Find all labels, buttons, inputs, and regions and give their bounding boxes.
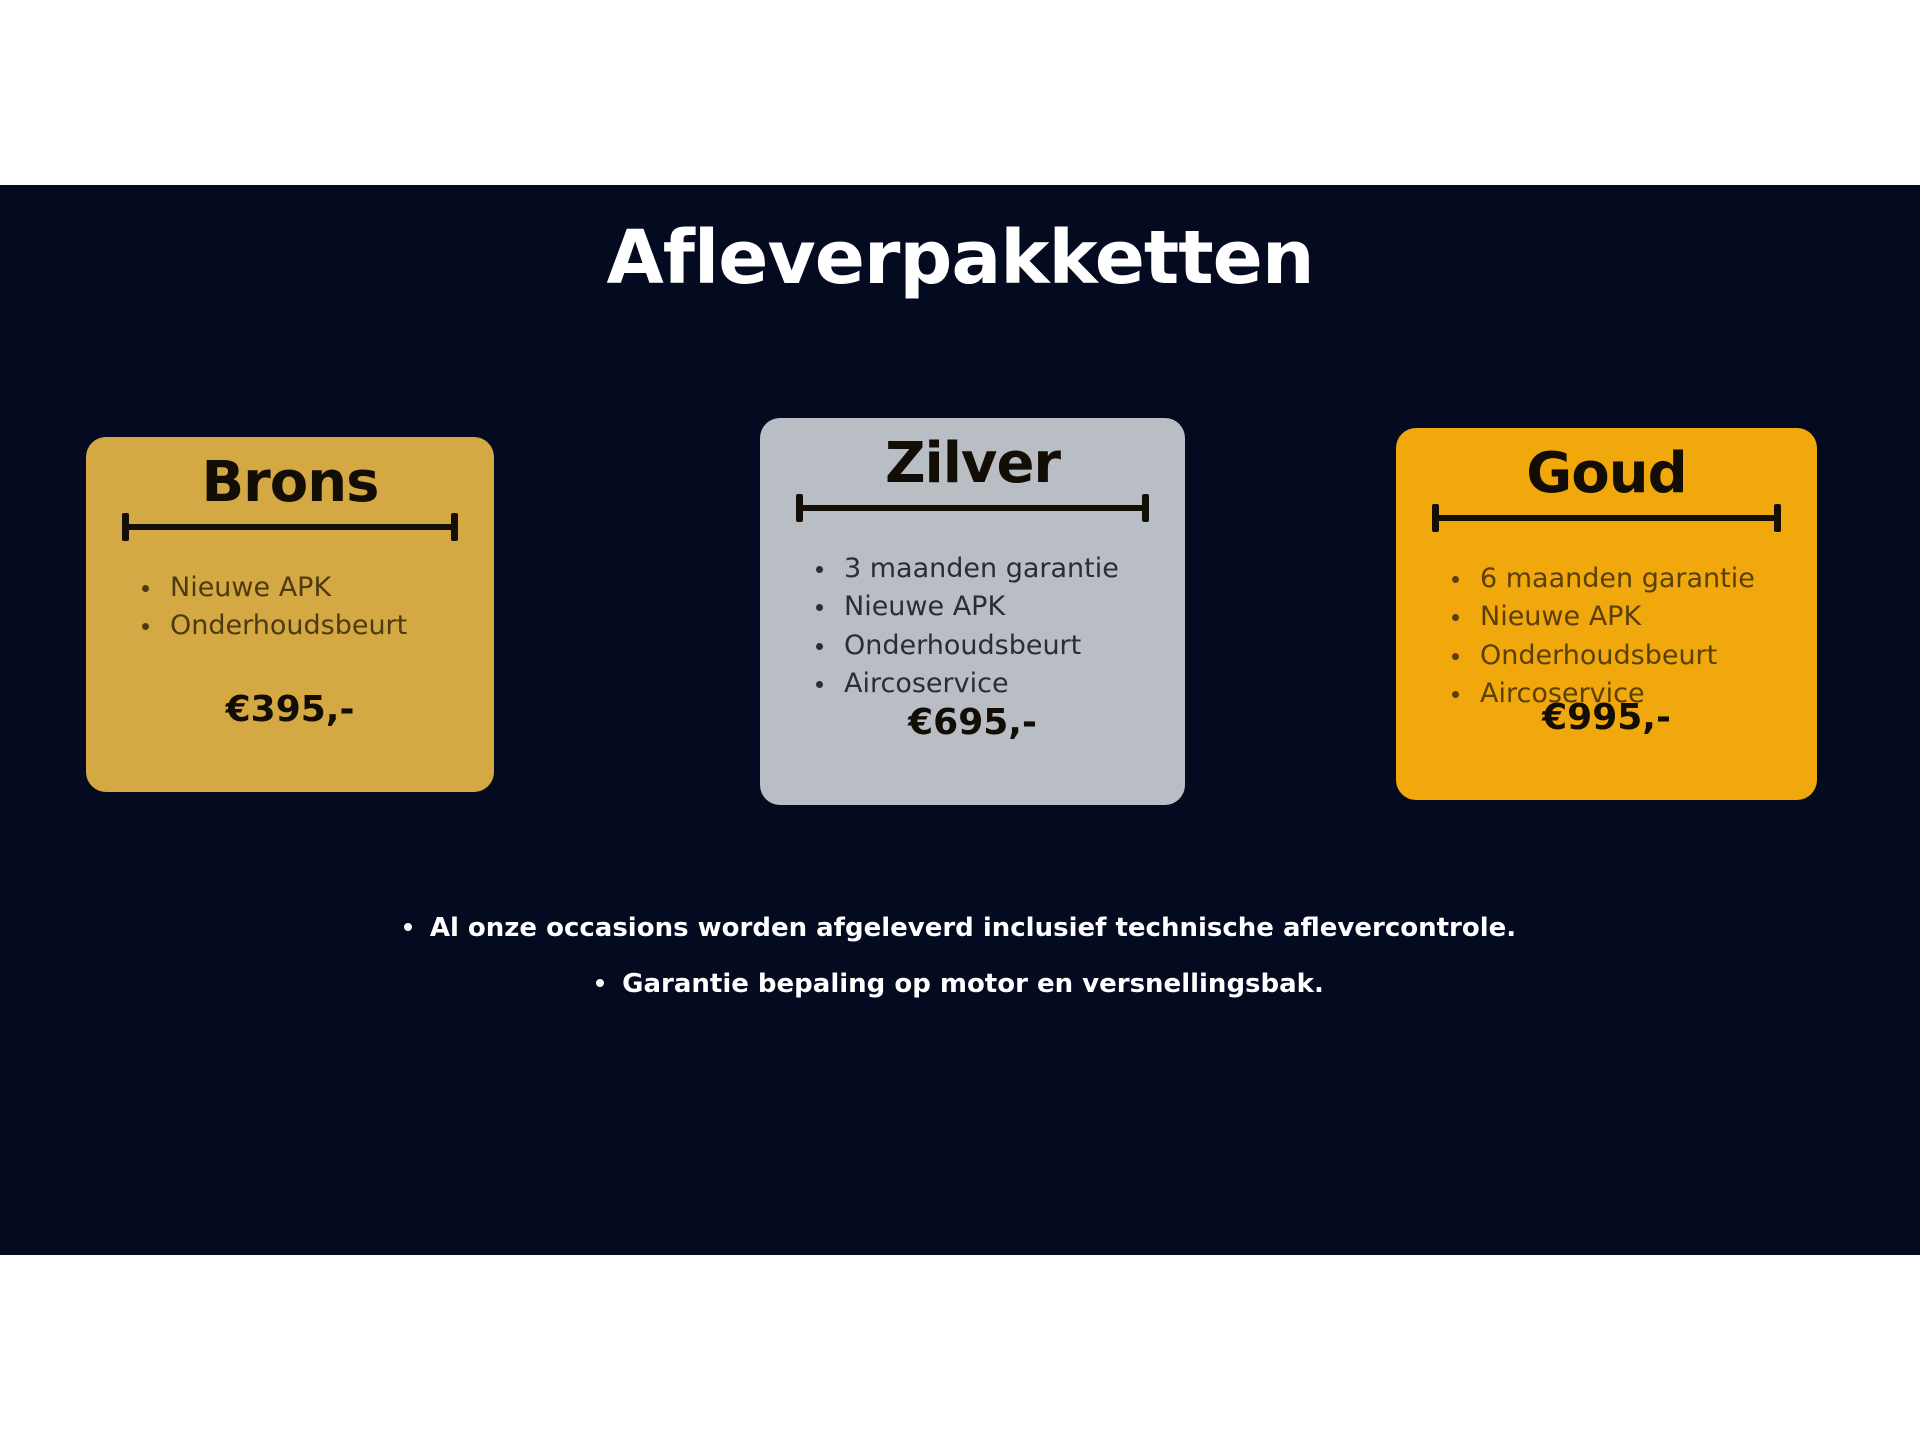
package-card-brons[interactable]: Brons Nieuwe APK Onderhoudsbeurt €395,- [86,437,494,792]
list-item: 3 maanden garantie [808,550,1185,588]
bullet-icon [596,979,604,987]
list-item: Nieuwe APK [134,569,494,607]
package-title-brons: Brons [86,437,494,511]
footnote-text: Al onze occasions worden afgeleverd incl… [430,913,1516,943]
divider-cap-right-icon [451,513,458,541]
list-item: Nieuwe APK [808,588,1185,626]
list-item: Nieuwe APK [1444,598,1817,636]
footnotes-section: Al onze occasions worden afgeleverd incl… [0,915,1920,1027]
bullet-icon [404,923,412,931]
list-item: 6 maanden garantie [1444,560,1817,598]
feature-list-goud: 6 maanden garantie Nieuwe APK Onderhouds… [1396,560,1817,713]
divider-line-icon [1438,515,1775,521]
list-item: Aircoservice [808,665,1185,703]
title-divider-bar-icon [796,494,1149,520]
list-item: Onderhoudsbeurt [808,627,1185,665]
title-divider-bar-icon [122,513,458,539]
page-title: Afleverpakketten [0,215,1920,301]
package-title-goud: Goud [1396,428,1817,502]
divider-line-icon [802,505,1143,511]
divider-line-icon [128,524,452,530]
package-title-zilver: Zilver [760,418,1185,492]
list-item: Onderhoudsbeurt [134,607,494,645]
package-price-zilver: €695,- [760,702,1185,743]
footnote-text: Garantie bepaling op motor en versnellin… [622,969,1324,999]
footnote-item: Garantie bepaling op motor en versnellin… [0,971,1920,997]
divider-cap-right-icon [1774,504,1781,532]
title-divider-bar-icon [1432,504,1781,530]
package-price-goud: €995,- [1396,697,1817,738]
package-card-zilver[interactable]: Zilver 3 maanden garantie Nieuwe APK Ond… [760,418,1185,805]
feature-list-zilver: 3 maanden garantie Nieuwe APK Onderhouds… [760,550,1185,703]
package-card-goud[interactable]: Goud 6 maanden garantie Nieuwe APK Onder… [1396,428,1817,800]
list-item: Onderhoudsbeurt [1444,637,1817,675]
footnote-item: Al onze occasions worden afgeleverd incl… [0,915,1920,941]
feature-list-brons: Nieuwe APK Onderhoudsbeurt [86,569,494,646]
divider-cap-right-icon [1142,494,1149,522]
package-price-brons: €395,- [86,689,494,730]
slide-canvas: Afleverpakketten Brons Nieuwe APK Onderh… [0,185,1920,1255]
